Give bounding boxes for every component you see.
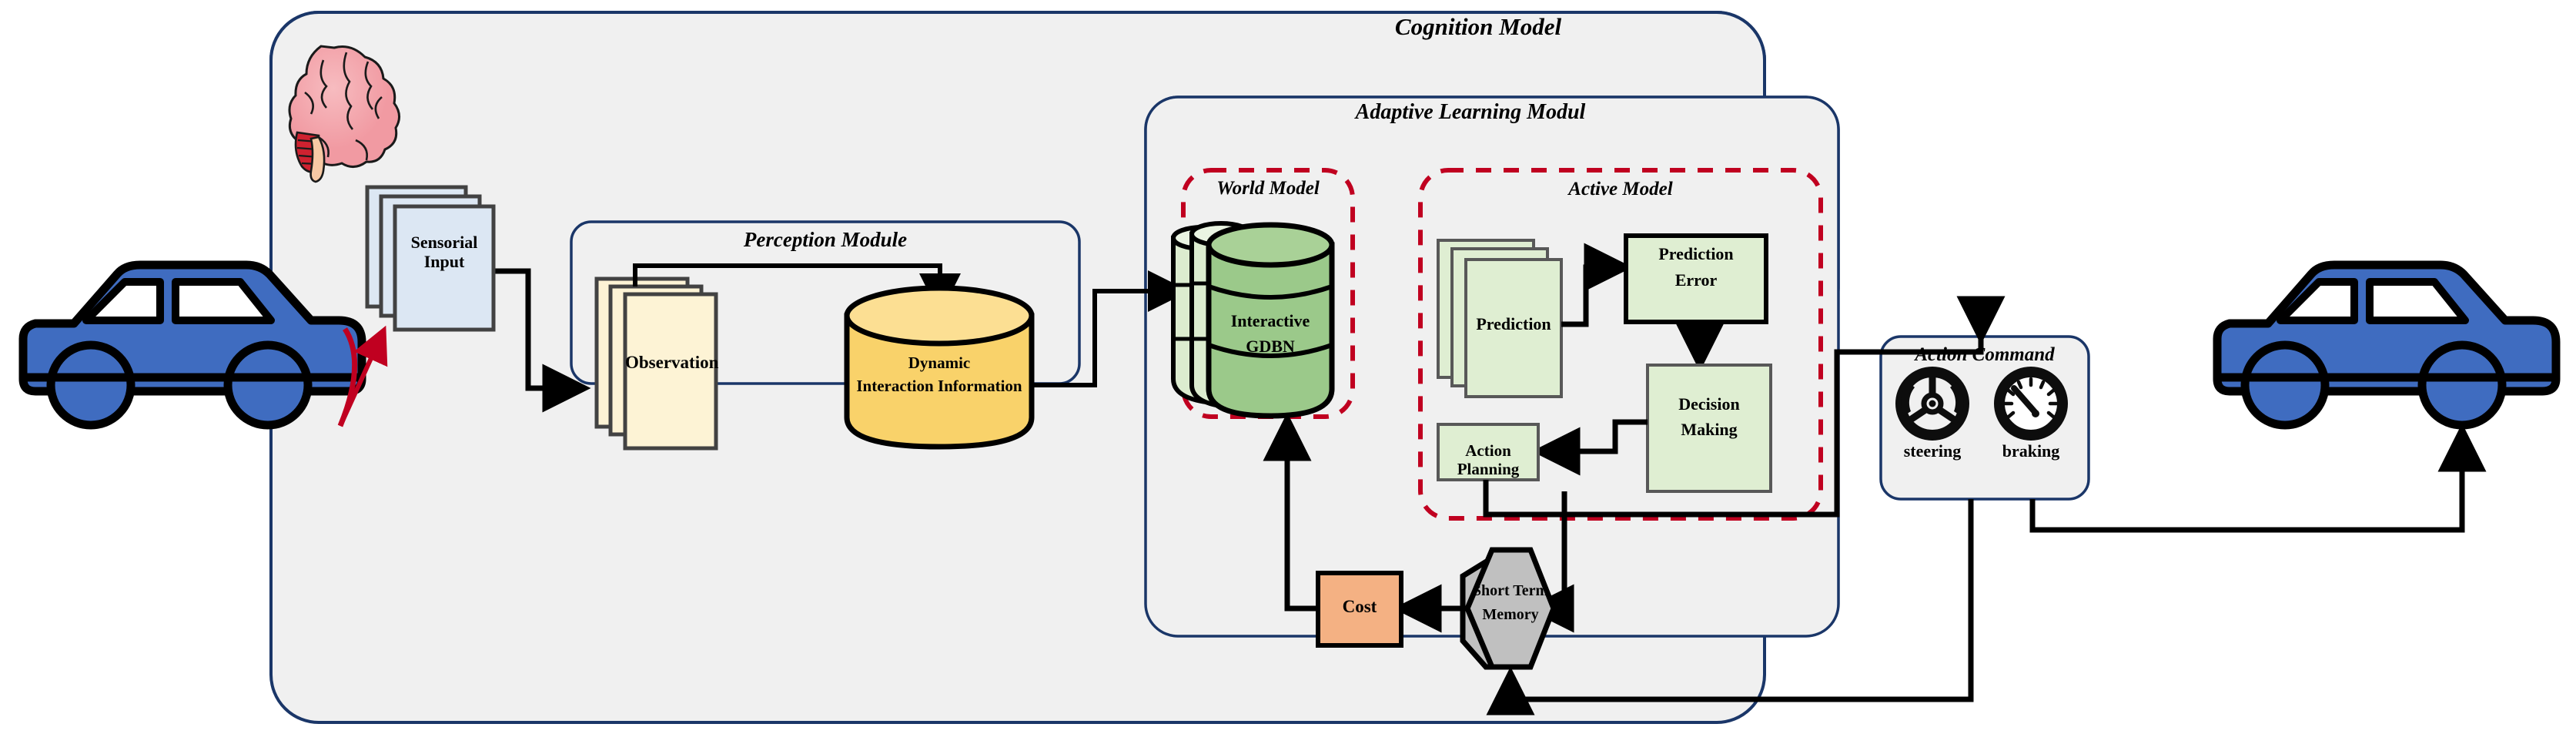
diagram-canvas: Cognition Model Adaptive Learning Modul … xyxy=(0,0,2576,754)
sensorial-input-label: Sensorial Input xyxy=(395,233,493,271)
action-planning-label: Action Planning xyxy=(1437,442,1540,478)
adaptive-learning-module-title: Adaptive Learning Modul xyxy=(1232,100,1709,124)
active-model-title: Active Model xyxy=(1420,179,1821,200)
short-term-memory-label-line2: Memory xyxy=(1463,606,1558,623)
interactive-gdbn-label-line2: GDBN xyxy=(1209,337,1332,357)
observation-label: Observation xyxy=(625,353,716,373)
prediction-label: Prediction xyxy=(1466,315,1561,334)
car-icon-right xyxy=(2217,265,2556,425)
cost-label: Cost xyxy=(1318,597,1401,617)
decision-making-label-line2: Making xyxy=(1648,421,1771,440)
cognition-model-title: Cognition Model xyxy=(1239,14,1717,41)
dynamic-interaction-label-line2: Interaction Information xyxy=(842,377,1036,396)
braking-label: braking xyxy=(1985,442,2077,461)
short-term-memory-label-line1: Short Term xyxy=(1463,582,1558,599)
steering-label: steering xyxy=(1886,442,1979,461)
dynamic-interaction-label-line1: Dynamic xyxy=(847,354,1032,373)
gauge-icon xyxy=(1999,372,2062,435)
perception-module-title: Perception Module xyxy=(602,228,1049,251)
prediction-error-label-line2: Error xyxy=(1626,271,1766,290)
decision-making-label-line1: Decision xyxy=(1648,395,1771,414)
interactive-gdbn-label-line1: Interactive xyxy=(1209,312,1332,331)
prediction-error-label-line1: Prediction xyxy=(1626,245,1766,264)
action-command-title: Action Command xyxy=(1881,344,2089,366)
world-model-title: World Model xyxy=(1164,178,1372,199)
flow-braking-to-car xyxy=(2032,431,2462,530)
